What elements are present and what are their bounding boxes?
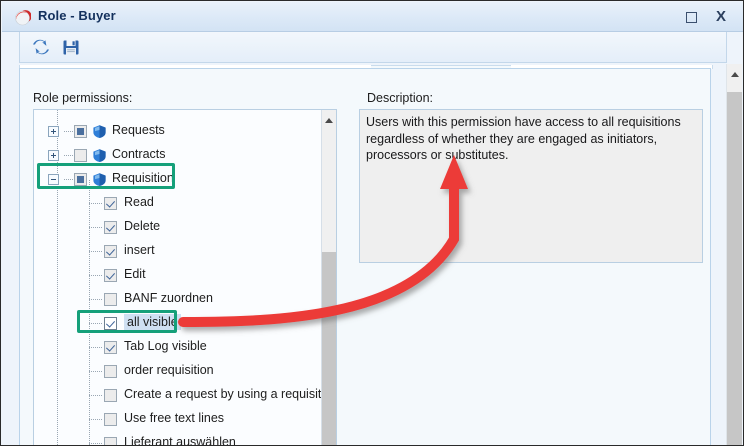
tree-item-label: Read <box>124 195 154 209</box>
checkbox[interactable] <box>104 341 117 354</box>
tree-item[interactable]: all visible <box>34 312 322 336</box>
close-button[interactable]: X <box>708 7 734 27</box>
tree-item[interactable]: Delete <box>34 216 322 240</box>
tree-guide-line <box>89 323 103 324</box>
tree-item-label: all visible <box>124 314 181 330</box>
expand-icon[interactable] <box>48 126 59 137</box>
caret-up-icon <box>731 72 739 77</box>
page-scrollbar-thumb[interactable] <box>727 92 742 446</box>
tree-guide-line <box>89 395 103 396</box>
tree-guide-line <box>89 299 103 300</box>
tree-item-label: Edit <box>124 267 146 281</box>
refresh-icon[interactable] <box>30 36 54 59</box>
tree-guide-line <box>64 131 74 132</box>
tree-item[interactable]: Lieferant auswählen <box>34 432 322 446</box>
restore-button[interactable] <box>678 7 704 27</box>
tree-guide-line <box>64 155 74 156</box>
checkbox[interactable] <box>74 173 87 186</box>
tree-guide-line <box>89 275 103 276</box>
tree-item-label: Contracts <box>112 147 166 161</box>
tree-rows: RequestsContractsRequisitionReadDeletein… <box>34 110 322 446</box>
tree-item-label: Create a request by using a requisition <box>124 387 337 401</box>
tree-guide-line <box>64 179 74 180</box>
tree-item-label: Requests <box>112 123 165 137</box>
tree-item-label: Tab Log visible <box>124 339 207 353</box>
tree-guide-line <box>89 347 103 348</box>
tree-item-label: Lieferant auswählen <box>124 435 236 446</box>
tree-item-label: insert <box>124 243 155 257</box>
checkbox[interactable] <box>104 389 117 402</box>
role-permissions-label: Role permissions: <box>33 91 132 105</box>
checkbox[interactable] <box>104 293 117 306</box>
tree-guide-line <box>89 419 103 420</box>
checkbox[interactable] <box>104 221 117 234</box>
checkbox[interactable] <box>104 197 117 210</box>
checkbox[interactable] <box>104 437 117 446</box>
restore-icon <box>686 12 697 23</box>
tree-guide-line <box>89 251 103 252</box>
tree-item[interactable]: Edit <box>34 264 322 288</box>
checkbox[interactable] <box>74 125 87 138</box>
description-label: Description: <box>367 91 433 105</box>
expand-icon[interactable] <box>48 150 59 161</box>
tree-scroll-up-button[interactable] <box>322 110 336 126</box>
tree-item-label: BANF zuordnen <box>124 291 213 305</box>
tree-guide-line <box>89 443 103 444</box>
tree-item-label: Use free text lines <box>124 411 224 425</box>
save-icon[interactable] <box>60 36 84 59</box>
tree-guide-line <box>89 371 103 372</box>
role-permissions-tree[interactable]: RequestsContractsRequisitionReadDeletein… <box>33 109 337 446</box>
tree-item[interactable]: BANF zuordnen <box>34 288 322 312</box>
toolbar <box>19 32 727 63</box>
checkbox[interactable] <box>104 245 117 258</box>
tree-item[interactable]: Use free text lines <box>34 408 322 432</box>
checkbox[interactable] <box>104 413 117 426</box>
tree-guide-line <box>89 227 103 228</box>
tree-item[interactable]: Requisition <box>34 168 322 192</box>
cube-icon <box>92 172 107 187</box>
tree-item[interactable]: Requests <box>34 120 322 144</box>
page-scroll-up-button[interactable] <box>727 64 742 81</box>
app-sphere-icon <box>14 9 31 26</box>
checkbox[interactable] <box>104 269 117 282</box>
tree-item[interactable]: Create a request by using a requisition <box>34 384 322 408</box>
caret-up-icon <box>325 118 333 123</box>
tree-guide-line <box>89 203 103 204</box>
tree-item-label: Requisition <box>112 171 174 185</box>
tree-item[interactable]: Read <box>34 192 322 216</box>
collapse-icon[interactable] <box>48 174 59 185</box>
cube-icon <box>92 148 107 163</box>
window-title: Role - Buyer <box>38 8 116 23</box>
window-titlebar: Role - Buyer X <box>2 2 744 32</box>
checkbox[interactable] <box>104 365 117 378</box>
tree-item-label: order requisition <box>124 363 214 377</box>
cube-icon <box>92 124 107 139</box>
tree-item[interactable]: insert <box>34 240 322 264</box>
page-scrollbar[interactable] <box>726 64 742 446</box>
description-textbox[interactable]: Users with this permission have access t… <box>359 109 703 263</box>
tree-item[interactable]: order requisition <box>34 360 322 384</box>
tree-scrollbar[interactable] <box>321 110 336 446</box>
role-editor-window: Role - Buyer X Role permissions: Descrip <box>0 0 744 446</box>
tree-item[interactable]: Contracts <box>34 144 322 168</box>
tree-scrollbar-thumb[interactable] <box>322 252 336 446</box>
tree-item-label: Delete <box>124 219 160 233</box>
checkbox[interactable] <box>104 317 117 330</box>
tree-item[interactable]: Tab Log visible <box>34 336 322 360</box>
checkbox[interactable] <box>74 149 87 162</box>
